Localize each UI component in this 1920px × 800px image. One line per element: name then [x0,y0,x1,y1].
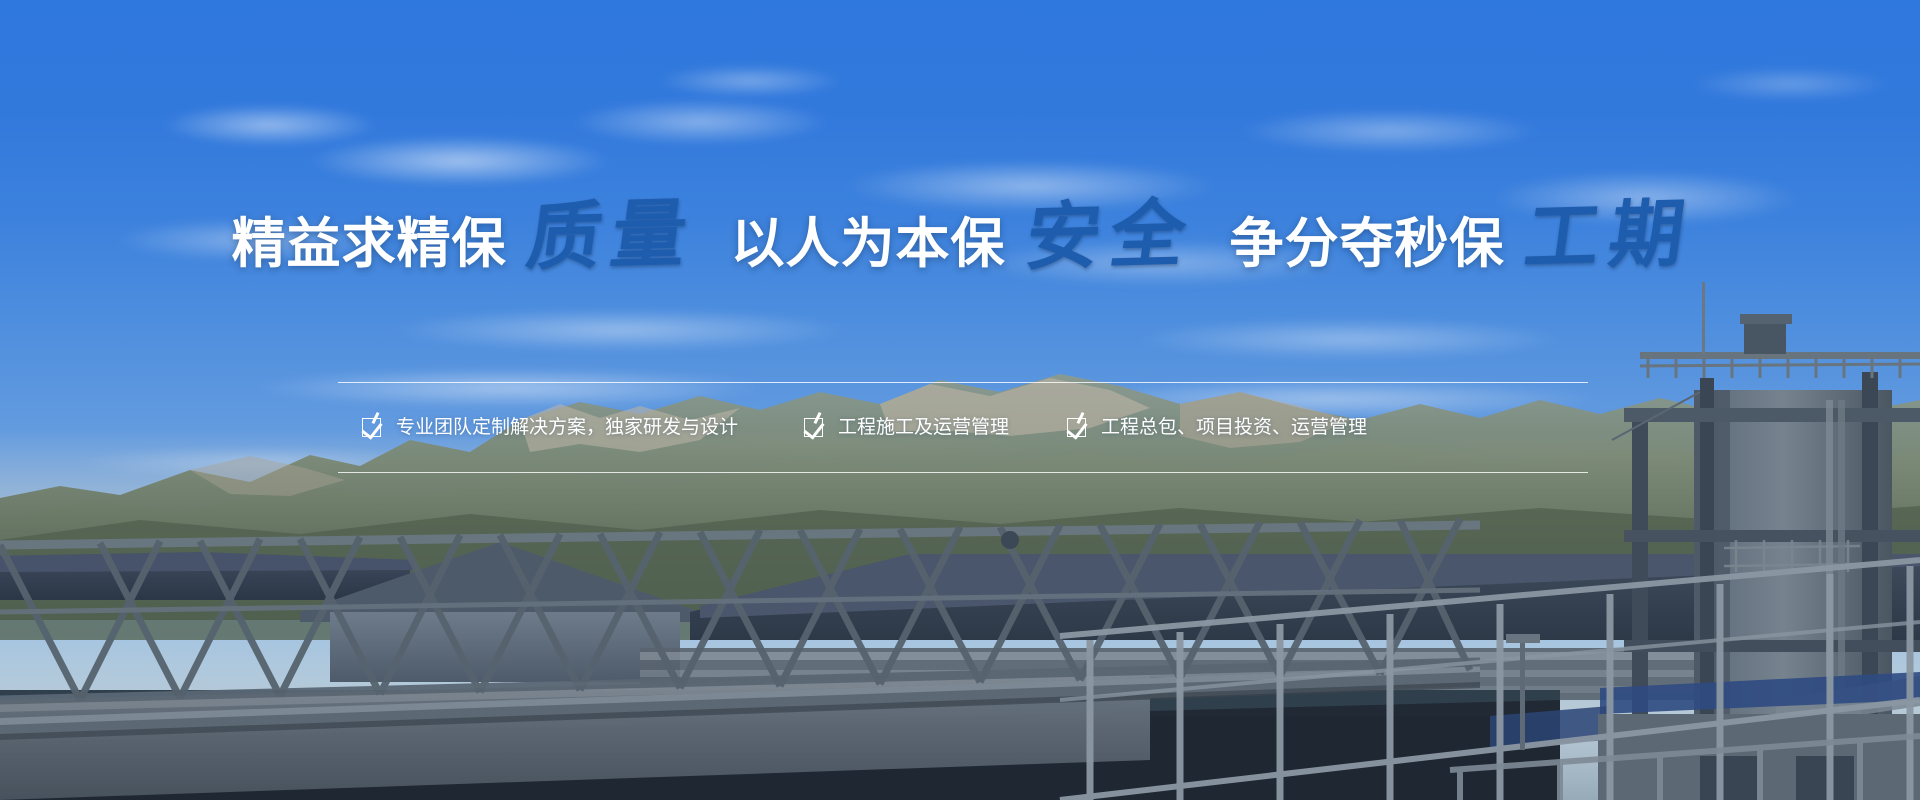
checkbox-checked-icon [804,418,823,437]
checkbox-checked-icon [1067,418,1086,437]
feature-item-2[interactable]: 工程施工及运营管理 [804,418,1009,437]
feature-label-2: 工程施工及运营管理 [838,418,1009,437]
feature-label-1: 专业团队定制解决方案，独家研发与设计 [396,418,738,437]
headline-plain-2: 以人为本保 [731,217,1006,271]
headline-segment-2: 以人为本保 安全 [731,206,1190,271]
hero-banner: 精益求精保 质量 以人为本保 安全 争分夺秒保 工期 专业团队定制解决方案，独家… [0,0,1920,800]
feature-label-3: 工程总包、项目投资、运营管理 [1101,418,1367,437]
divider-bottom [338,472,1588,473]
feature-item-1[interactable]: 专业团队定制解决方案，独家研发与设计 [362,418,738,437]
feature-strip: 专业团队定制解决方案，独家研发与设计 工程施工及运营管理 工程总包、项目投资、运… [338,382,1588,473]
checkbox-checked-icon [362,418,381,437]
headline-art-1: 质量 [523,202,700,271]
headline-plain-3: 争分夺秒保 [1230,217,1505,271]
feature-list: 专业团队定制解决方案，独家研发与设计 工程施工及运营管理 工程总包、项目投资、运… [338,383,1588,472]
walkway-light [1001,531,1019,549]
headline: 精益求精保 质量 以人为本保 安全 争分夺秒保 工期 [0,206,1920,271]
headline-segment-1: 精益求精保 质量 [232,206,691,271]
feature-item-3[interactable]: 工程总包、项目投资、运营管理 [1067,418,1367,437]
headline-art-2: 安全 [1022,202,1199,271]
headline-plain-1: 精益求精保 [232,217,507,271]
headline-art-3: 工期 [1521,202,1698,271]
headline-segment-3: 争分夺秒保 工期 [1230,206,1689,271]
